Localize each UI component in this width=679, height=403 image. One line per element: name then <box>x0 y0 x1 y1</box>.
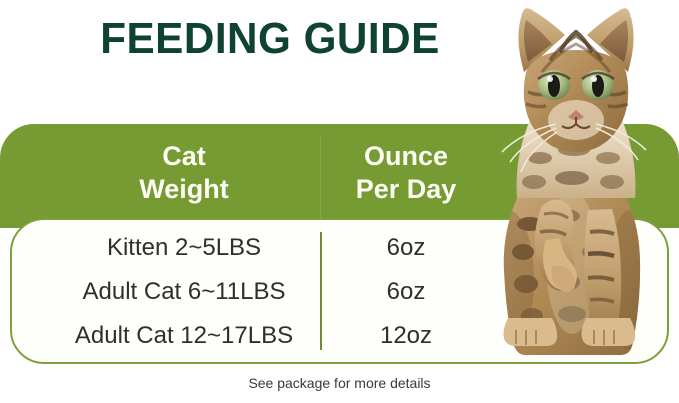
cell-cat-weight: Kitten 2~5LBS <box>48 226 320 270</box>
cell-ounce-per-day: 6oz <box>322 226 490 270</box>
cell-ounce-per-day: 12oz <box>322 314 490 358</box>
column-header-ounce-per-day: Ounce Per Day <box>322 140 490 206</box>
table-row: Adult Cat 12~17LBS 12oz <box>10 314 669 358</box>
page-title: FEEDING GUIDE <box>11 13 529 65</box>
table-row: Kitten 2~5LBS 6oz <box>10 226 669 270</box>
table-header-band: Cat Weight Ounce Per Day <box>0 124 679 228</box>
footnote-text: See package for more details <box>0 373 679 393</box>
cell-cat-weight: Adult Cat 12~17LBS <box>48 314 320 358</box>
cat-eyes <box>538 70 614 100</box>
feeding-guide-card: FEEDING GUIDE Cat Weight Ounce Per Day K… <box>0 0 679 403</box>
table-row: Adult Cat 6~11LBS 6oz <box>10 270 669 314</box>
column-header-cat-weight: Cat Weight <box>48 140 320 206</box>
table-rows: Kitten 2~5LBS 6oz Adult Cat 6~11LBS 6oz … <box>10 218 669 364</box>
header-column-divider <box>320 136 321 222</box>
cell-cat-weight: Adult Cat 6~11LBS <box>48 270 320 314</box>
feeding-table: Cat Weight Ounce Per Day Kitten 2~5LBS 6… <box>0 124 679 364</box>
cell-ounce-per-day: 6oz <box>322 270 490 314</box>
